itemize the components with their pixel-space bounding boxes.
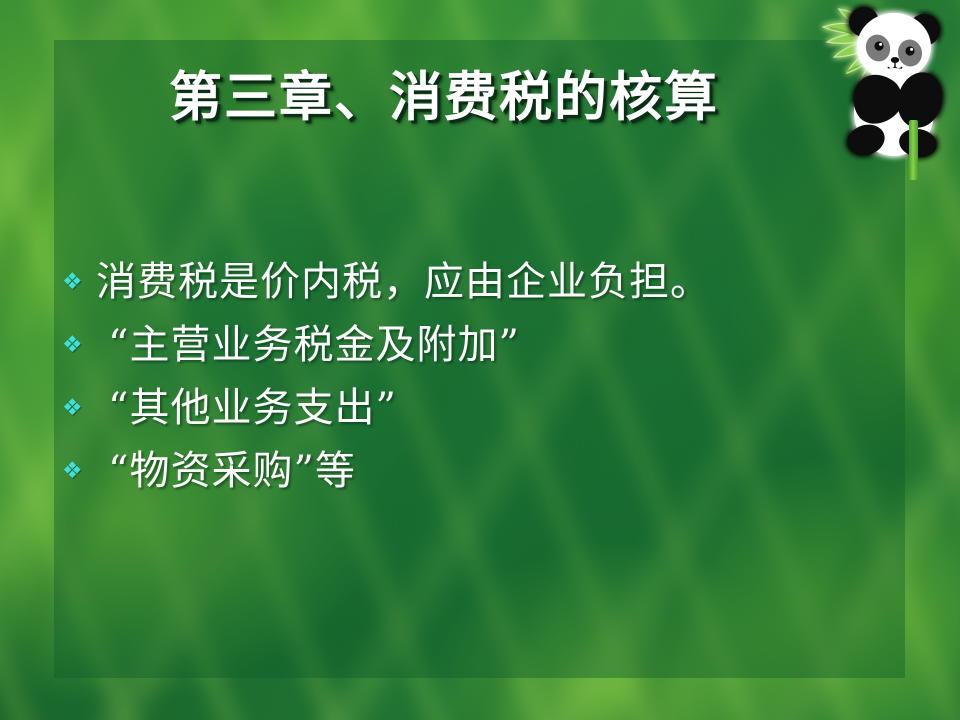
slide-title: 第三章、消费税的核算	[54, 68, 834, 127]
list-item: ❖ 消费税是价内税，应由企业负担。	[62, 258, 862, 306]
list-item: ❖ “主营业务税金及附加”	[62, 321, 862, 369]
diamond-cluster-bullet-icon: ❖	[62, 384, 96, 432]
panda-pupil-left	[874, 41, 883, 50]
panda-decoration	[806, 0, 960, 172]
list-item: ❖ “其他业务支出”	[62, 384, 862, 432]
panda-pupil-right	[905, 46, 914, 55]
list-item: ❖ “物资采购”等	[62, 447, 862, 495]
bullet-list: ❖ 消费税是价内税，应由企业负担。 ❖ “主营业务税金及附加” ❖ “其他业务支…	[62, 258, 862, 510]
diamond-cluster-bullet-icon: ❖	[62, 447, 96, 495]
panda-with-bamboo-icon	[806, 0, 960, 172]
bullet-text: “物资采购”等	[96, 447, 862, 495]
diamond-cluster-bullet-icon: ❖	[62, 321, 96, 369]
bullet-text: “其他业务支出”	[96, 384, 862, 432]
bullet-text: “主营业务税金及附加”	[96, 321, 862, 369]
diamond-cluster-bullet-icon: ❖	[62, 258, 96, 306]
bullet-text: 消费税是价内税，应由企业负担。	[96, 258, 862, 306]
panda-nose	[891, 57, 899, 63]
bamboo-stalk-icon	[909, 120, 918, 180]
slide-canvas: 第三章、消费税的核算 ❖ 消费税是价内税，应由企业负担。 ❖ “主营业务税金及附…	[0, 0, 960, 720]
